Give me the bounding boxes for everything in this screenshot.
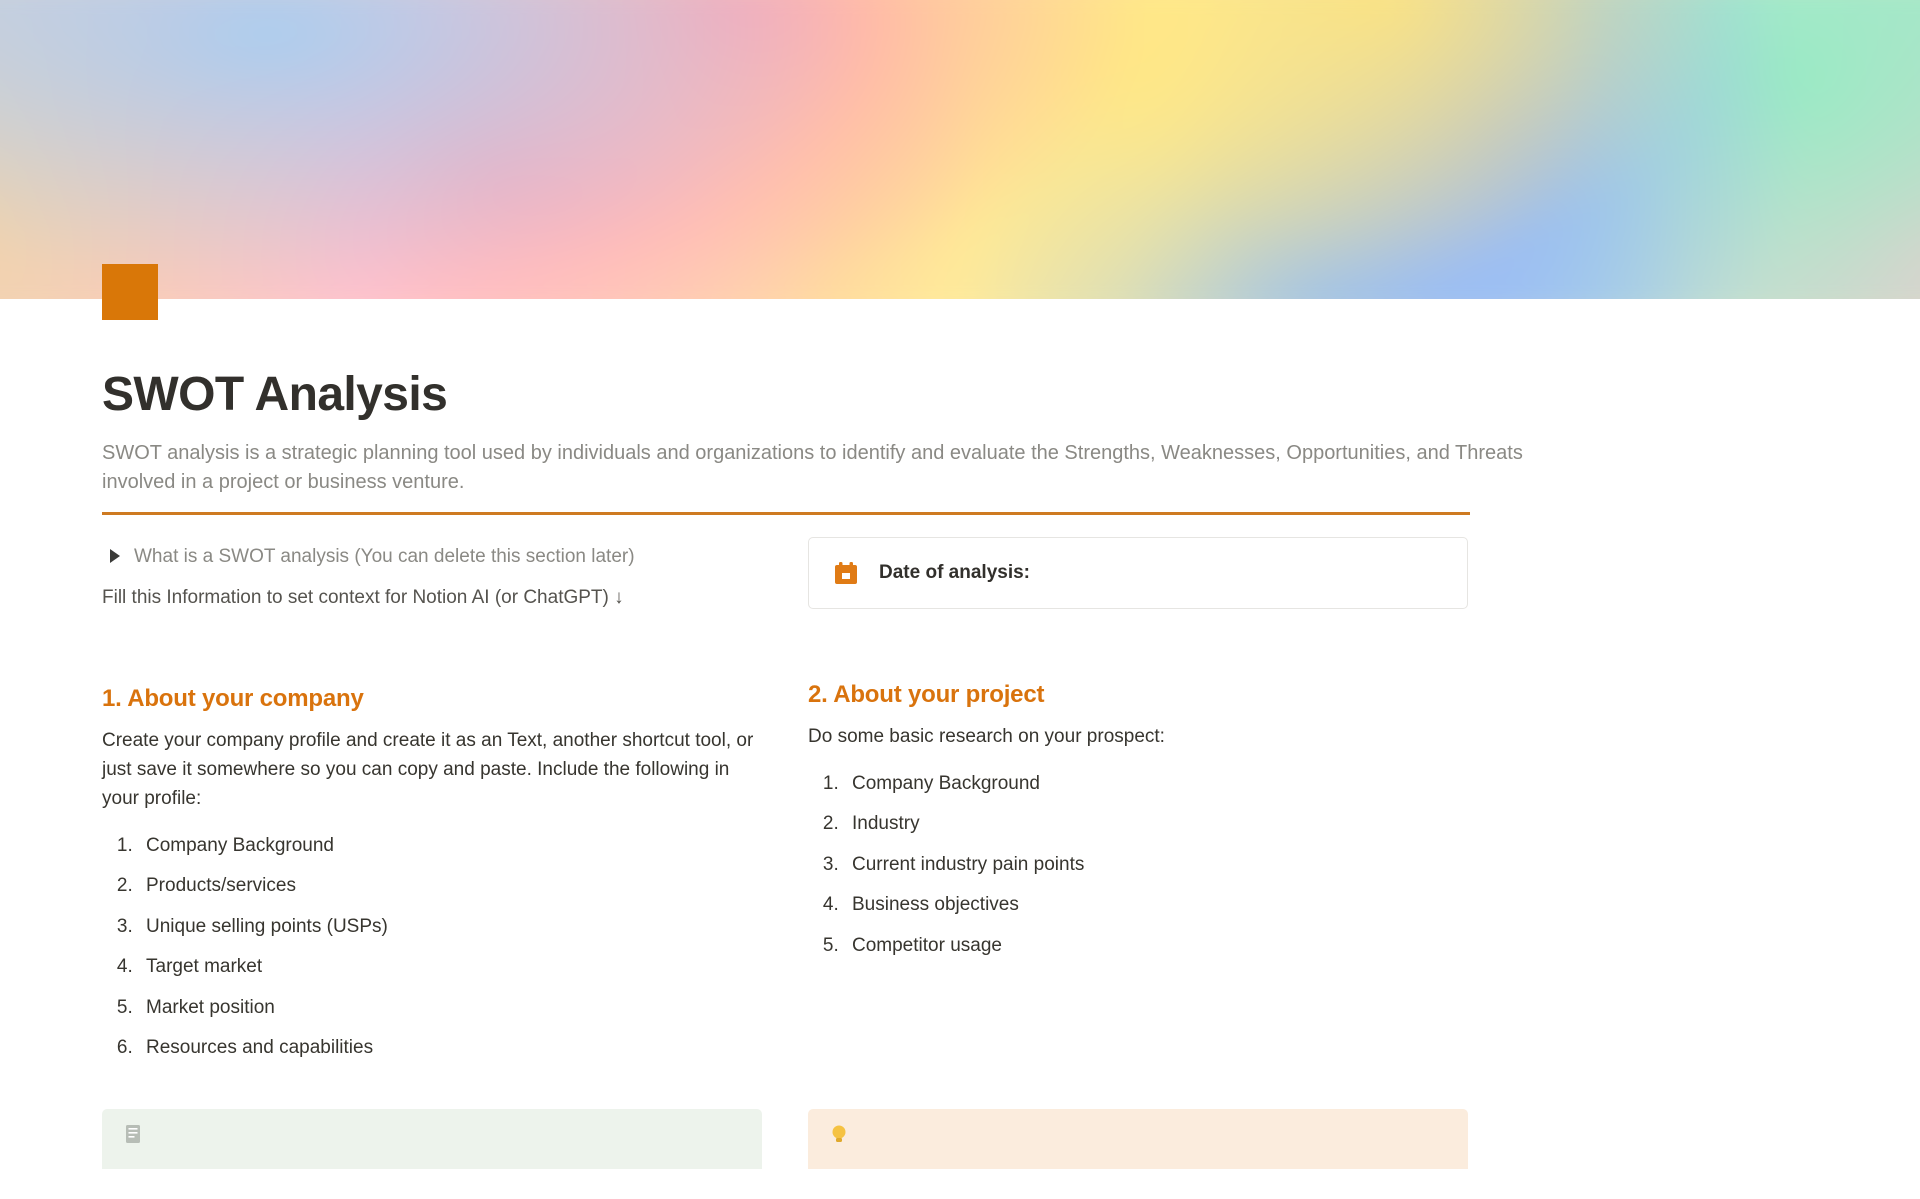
bottom-callout-row bbox=[102, 1109, 1799, 1169]
date-of-analysis-callout[interactable]: Date of analysis: bbox=[808, 537, 1468, 609]
orange-divider bbox=[102, 512, 1470, 515]
weaknesses-callout[interactable] bbox=[808, 1109, 1468, 1169]
list-item[interactable]: Target market bbox=[138, 947, 762, 988]
list-item[interactable]: Resources and capabilities bbox=[138, 1028, 762, 1069]
page-content: SWOT Analysis SWOT analysis is a strateg… bbox=[102, 299, 1799, 1169]
gradient-cover-banner bbox=[0, 0, 1920, 299]
list-item[interactable]: Products/services bbox=[138, 866, 762, 907]
list-item[interactable]: Company Background bbox=[138, 826, 762, 867]
page-body: SWOT Analysis SWOT analysis is a strateg… bbox=[0, 299, 1920, 1169]
document-icon bbox=[122, 1123, 144, 1145]
two-column-layout: What is a SWOT analysis (You can delete … bbox=[102, 537, 1799, 1069]
lightbulb-icon bbox=[828, 1123, 850, 1145]
section-body-project[interactable]: Do some basic research on your prospect: bbox=[808, 723, 1468, 752]
page-description[interactable]: SWOT analysis is a strategic planning to… bbox=[102, 439, 1582, 497]
list-item[interactable]: Industry bbox=[844, 804, 1468, 845]
chevron-right-icon[interactable] bbox=[110, 549, 120, 563]
section-heading-project: 2. About your project bbox=[808, 681, 1468, 709]
fill-info-note: Fill this Information to set context for… bbox=[102, 574, 762, 613]
section-body-company[interactable]: Create your company profile and create i… bbox=[102, 727, 762, 814]
toggle-label: What is a SWOT analysis (You can delete … bbox=[134, 543, 635, 571]
title-block: SWOT Analysis SWOT analysis is a strateg… bbox=[102, 299, 1799, 515]
list-item[interactable]: Market position bbox=[138, 988, 762, 1029]
page-title[interactable]: SWOT Analysis bbox=[102, 351, 1799, 421]
project-checklist: Company Background Industry Current indu… bbox=[808, 764, 1468, 967]
right-column: Date of analysis: 2. About your project … bbox=[808, 537, 1468, 1069]
list-item[interactable]: Current industry pain points bbox=[844, 845, 1468, 886]
date-of-analysis-label: Date of analysis: bbox=[879, 562, 1030, 584]
list-item[interactable]: Unique selling points (USPs) bbox=[138, 907, 762, 948]
company-checklist: Company Background Products/services Uni… bbox=[102, 826, 762, 1069]
cover-gradient-mesh bbox=[0, 0, 1920, 299]
section-heading-company: 1. About your company bbox=[102, 685, 762, 713]
list-item[interactable]: Competitor usage bbox=[844, 926, 1468, 967]
left-column: What is a SWOT analysis (You can delete … bbox=[102, 537, 762, 1069]
list-item[interactable]: Company Background bbox=[844, 764, 1468, 805]
calendar-icon bbox=[833, 560, 859, 586]
list-item[interactable]: Business objectives bbox=[844, 885, 1468, 926]
toggle-what-is-swot[interactable]: What is a SWOT analysis (You can delete … bbox=[102, 537, 762, 575]
strengths-callout[interactable] bbox=[102, 1109, 762, 1169]
orange-square-page-icon[interactable] bbox=[102, 264, 158, 320]
